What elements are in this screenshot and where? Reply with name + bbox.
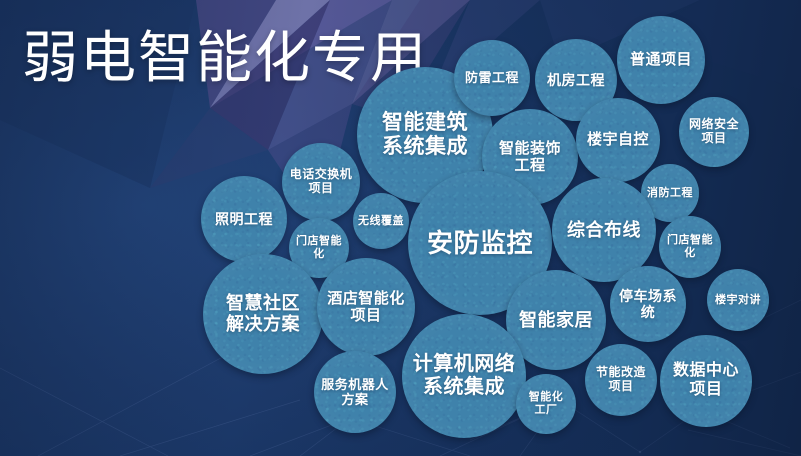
bubble-item[interactable]: 停车场系统 [610,266,686,342]
bubble-label: 酒店智能化项目 [321,290,411,325]
slide-canvas: 弱电智能化专用 智能建筑系统集成防雷工程机房工程普通项目网络安全项目智能装饰工程… [0,0,801,456]
bubble-item[interactable]: 智能化工厂 [516,374,576,434]
bubble-label: 计算机网络系统集成 [407,353,522,399]
bubble-item[interactable]: 门店智能化 [659,216,721,278]
bubble-label: 节能改造项目 [590,366,652,394]
bubble-label: 防雷工程 [459,70,525,85]
bubble-label: 停车场系统 [613,288,683,320]
bubble-item[interactable]: 网络安全项目 [679,97,749,167]
bubble-label: 综合布线 [561,220,647,241]
bubble-label: 无线覆盖 [353,215,409,228]
bubble-label: 机房工程 [541,72,611,88]
bubble-label: 门店智能化 [661,234,719,260]
bubble-item[interactable]: 照明工程 [201,176,287,262]
bubble-item[interactable]: 楼宇对讲 [707,269,769,331]
bubble-label: 智能装饰工程 [493,140,567,175]
bubble-item[interactable]: 智慧社区解决方案 [203,254,323,374]
bubble-label: 楼宇自控 [581,131,655,148]
bubble-item[interactable]: 服务机器人方案 [314,351,396,433]
bubble-label: 服务机器人方案 [315,377,395,407]
bubble-cloud: 智能建筑系统集成防雷工程机房工程普通项目网络安全项目智能装饰工程楼宇自控消防工程… [0,0,801,456]
bubble-item[interactable]: 酒店智能化项目 [317,258,415,356]
bubble-label: 安防监控 [421,228,539,258]
bubble-label: 智能家居 [513,310,599,331]
bubble-label: 楼宇对讲 [709,294,767,307]
bubble-label: 数据中心项目 [667,362,745,399]
bubble-label: 普通项目 [624,51,698,68]
bubble-label: 网络安全项目 [683,118,745,146]
bubble-label: 门店智能化 [290,235,348,261]
bubble-item[interactable]: 计算机网络系统集成 [402,314,526,438]
bubble-label: 智能建筑系统集成 [376,111,474,160]
bubble-label: 智慧社区解决方案 [220,293,306,335]
bubble-item[interactable]: 数据中心项目 [660,335,752,427]
bubble-item[interactable]: 电话交换机项目 [282,143,360,221]
bubble-label: 消防工程 [641,187,699,200]
bubble-item[interactable]: 普通项目 [617,16,705,104]
bubble-item[interactable]: 楼宇自控 [576,98,660,182]
bubble-item[interactable]: 无线覆盖 [353,193,409,249]
bubble-label: 照明工程 [209,211,279,227]
bubble-label: 电话交换机项目 [284,168,359,196]
bubble-item[interactable]: 防雷工程 [454,40,530,116]
bubble-item[interactable]: 节能改造项目 [585,344,657,416]
bubble-label: 智能化工厂 [523,391,570,417]
